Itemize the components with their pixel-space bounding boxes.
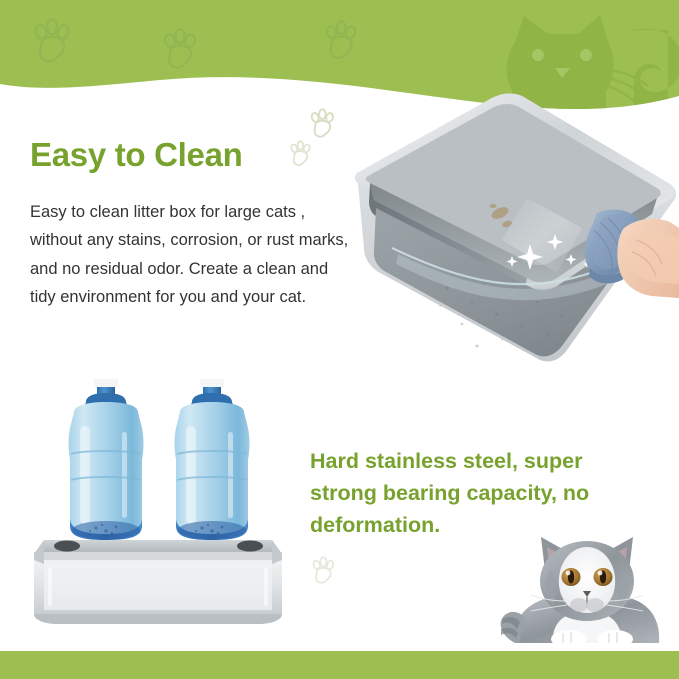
cat-paw (551, 630, 587, 648)
paw-print-icon (310, 556, 338, 591)
water-jug (175, 374, 250, 540)
page-title: Easy to Clean (30, 136, 243, 174)
litter-box-photo (352, 88, 679, 408)
body-paragraph: Easy to clean litter box for large cats … (30, 198, 350, 312)
paw-print-icon (160, 28, 202, 72)
water-jug (69, 374, 144, 540)
inverted-litter-box-base (34, 540, 282, 624)
paw-print-icon (288, 140, 314, 173)
cat-eye (594, 568, 613, 586)
paw-print-icon (322, 20, 362, 62)
cat-paw (597, 630, 633, 648)
footer-bar (0, 651, 679, 679)
hand (617, 219, 679, 298)
cat-eye (562, 568, 581, 586)
cat-photo (495, 525, 679, 651)
paw-print-icon (30, 18, 76, 66)
product-infographic: Easy to Clean Easy to clean litter box f… (0, 0, 679, 679)
load-capacity-photo (14, 368, 304, 630)
